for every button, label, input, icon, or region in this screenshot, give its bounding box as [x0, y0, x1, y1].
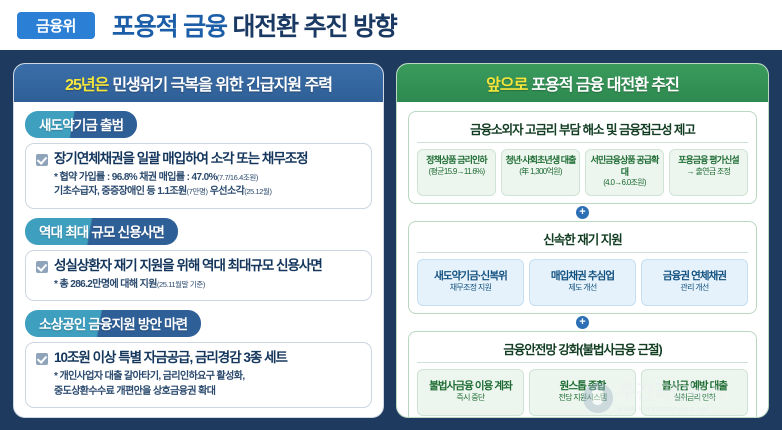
right-section-1-title: 금융소외자 고금리 부담 해소 및 금융접근성 제고: [417, 117, 748, 143]
left-block-1-sub-line2b: 우선소각: [208, 186, 245, 197]
cell-line1: 정책상품 금리인하: [426, 155, 487, 165]
page-header: 금융위 포용적 금융 대전환 추진 방향: [0, 0, 782, 50]
left-block-3: 소상공인 금융지원 방안 마련 10조원 이상 특별 자금공급, 금리경감 3종…: [25, 310, 372, 408]
page-title-highlight: 포용적 금융: [112, 13, 227, 41]
right-section-2-cells: 새도약기금·신복위 채무조정 지원 매입채권 추심업 제도 개선 금융권 연체채…: [417, 259, 748, 306]
right-section-2-cell-1: 새도약기금·신복위 채무조정 지원: [417, 259, 524, 306]
left-block-1-sub-line2-wrap: 기초수급자, 중증장애인 등 1.1조원(7만명) 우선소각(25.12월): [54, 185, 361, 200]
left-block-2-card: 성실상환자 재기 지원을 위해 역대 최대규모 신용사면 * 총 286.2만명…: [25, 250, 372, 301]
check-icon: [36, 154, 48, 166]
plus-icon: +: [576, 316, 589, 329]
cell-line1: 서민금융상품 공급확대: [590, 155, 658, 177]
cell-line2: 관리 개선: [644, 283, 745, 293]
cell-line2: 실취금리 인하: [644, 393, 745, 403]
org-badge: 금융위: [17, 12, 95, 39]
cell-line2: → 출연금 조정: [672, 167, 745, 177]
right-section-3-cells: 불법사금융 이용 계좌 즉시 중단 원스톱 종합 전담 지원시스템 불사금 예방…: [417, 369, 748, 416]
right-section-1-cell-1: 정책상품 금리인하 (평균15.9→11.6%): [417, 149, 496, 196]
left-panel: 25년은 민생위기 극복을 위한 긴급지원 주력 새도약기금 출범 장기연체채권…: [13, 63, 384, 418]
cell-line2: 즉시 중단: [420, 393, 521, 403]
cell-line1: 매입채권 추심업: [551, 270, 614, 282]
right-section-3-title: 금융안전망 강화(불법사금융 근절): [417, 337, 748, 363]
left-block-3-sub-line1: * 개인사업자 대출 갈아타기, 금리인하요구 활성화,: [54, 370, 361, 385]
left-block-1-main-row: 장기연체채권을 일괄 매입하여 소각 또는 채무조정: [36, 151, 361, 168]
left-block-2-sub-note1: (25.11월말 기준): [157, 280, 205, 289]
left-block-1: 새도약기금 출범 장기연체채권을 일괄 매입하여 소각 또는 채무조정 * 협약…: [25, 111, 372, 209]
page-title: 포용적 금융 대전환 추진 방향: [112, 7, 397, 43]
right-panel: 앞으로 포용적 금융 대전환 추진 금융소외자 고금리 부담 해소 및 금융접근…: [396, 63, 769, 418]
check-icon: [36, 261, 48, 273]
cell-line1: 포용금융 평가신설: [678, 155, 739, 165]
right-section-1-cell-3: 서민금융상품 공급확대 (4.0→6.0조원): [585, 149, 664, 196]
right-section-3-cell-1: 불법사금융 이용 계좌 즉시 중단: [417, 369, 524, 416]
right-panel-header-accent: 앞으로: [486, 71, 527, 95]
cell-line1: 불사금 예방 대출: [662, 380, 727, 392]
plus-icon: +: [576, 206, 589, 219]
page-title-rest: 대전환 추진 방향: [233, 13, 397, 41]
left-block-3-card: 10조원 이상 특별 자금공급, 금리경감 3종 세트 * 개인사업자 대출 갈…: [25, 342, 372, 408]
left-block-3-main-row: 10조원 이상 특별 자금공급, 금리경감 3종 세트: [36, 350, 361, 367]
left-block-1-sub-line2: 기초수급자, 중증장애인 등 1.1조원: [54, 186, 187, 197]
left-block-2-sub-line1: * 총 286.2만명에 대해 지원: [54, 279, 157, 290]
right-section-1-cell-4: 포용금융 평가신설 → 출연금 조정: [669, 149, 748, 196]
cell-line2: (年 1,300억원): [504, 167, 577, 177]
left-block-1-sub: * 협약 가입률 : 96.8% 채권 매입률 : 47.0%(7.7/16.4…: [36, 171, 361, 200]
cell-line2: (4.0→6.0조원): [588, 178, 661, 188]
cell-line2: 제도 개선: [532, 283, 633, 293]
left-block-3-main: 10조원 이상 특별 자금공급, 금리경감 3종 세트: [54, 350, 287, 367]
right-section-2-cell-3: 금융권 연체채권 관리 개선: [641, 259, 748, 306]
right-section-1-cells: 정책상품 금리인하 (평균15.9→11.6%) 청년·사회초년생 대출 (年 …: [417, 149, 748, 196]
cell-line2: 전담 지원시스템: [532, 393, 633, 403]
left-block-1-sub-note3: (25.12월): [244, 187, 271, 196]
left-block-1-pill: 새도약기금 출범: [25, 111, 137, 138]
right-panel-header: 앞으로 포용적 금융 대전환 추진: [397, 64, 768, 102]
left-block-1-sub-line1-wrap: * 협약 가입률 : 96.8% 채권 매입률 : 47.0%(7.7/16.4…: [54, 171, 361, 186]
cell-line2: 채무조정 지원: [420, 283, 521, 293]
cell-line2: (평균15.9→11.6%): [420, 167, 493, 177]
cell-line1: 금융권 연체채권: [663, 270, 726, 282]
left-block-1-sub-line1: * 협약 가입률 : 96.8% 채권 매입률 : 47.0%: [54, 172, 217, 183]
left-block-2-main: 성실상환자 재기 지원을 위해 역대 최대규모 신용사면: [54, 258, 322, 275]
left-block-3-sub-line2: 중도상환수수료 개편안을 상호금융권 확대: [54, 385, 361, 400]
cell-line1: 불법사금융 이용 계좌: [429, 380, 512, 392]
cell-line1: 청년·사회초년생 대출: [505, 155, 575, 165]
right-section-3: 금융안전망 강화(불법사금융 근절) 불법사금융 이용 계좌 즉시 중단 원스톱…: [408, 331, 757, 418]
connector-plus-2: +: [408, 314, 757, 331]
cell-line1: 원스톱 종합: [560, 380, 606, 392]
right-section-2: 신속한 재기 지원 새도약기금·신복위 채무조정 지원 매입채권 추심업 제도 …: [408, 221, 757, 314]
left-block-2-main-row: 성실상환자 재기 지원을 위해 역대 최대규모 신용사면: [36, 258, 361, 275]
left-block-1-sub-note2: (7만명): [187, 187, 208, 196]
left-block-2-pill: 역대 최대 규모 신용사면: [25, 218, 178, 245]
right-section-2-title: 신속한 재기 지원: [417, 227, 748, 253]
left-block-1-sub-note1: (7.7/16.4조원): [217, 173, 258, 182]
left-panel-body: 새도약기금 출범 장기연체채권을 일괄 매입하여 소각 또는 채무조정 * 협약…: [14, 102, 383, 408]
right-section-1: 금융소외자 고금리 부담 해소 및 금융접근성 제고 정책상품 금리인하 (평균…: [408, 111, 757, 204]
cell-line1: 새도약기금·신복위: [434, 270, 507, 282]
infographic-page: 금융위 포용적 금융 대전환 추진 방향 25년은 민생위기 극복을 위한 긴급…: [0, 0, 782, 430]
right-section-1-cell-2: 청년·사회초년생 대출 (年 1,300억원): [501, 149, 580, 196]
right-panel-header-rest: 포용적 금융 대전환 추진: [531, 71, 679, 95]
left-block-1-card: 장기연체채권을 일괄 매입하여 소각 또는 채무조정 * 협약 가입률 : 96…: [25, 143, 372, 209]
right-section-2-cell-2: 매입채권 추심업 제도 개선: [529, 259, 636, 306]
left-block-2-sub: * 총 286.2만명에 대해 지원(25.11월말 기준): [36, 278, 361, 293]
right-section-3-cell-2: 원스톱 종합 전담 지원시스템: [529, 369, 636, 416]
left-panel-header: 25년은 민생위기 극복을 위한 긴급지원 주력: [14, 64, 383, 102]
left-block-3-pill: 소상공인 금융지원 방안 마련: [25, 310, 201, 337]
check-icon: [36, 353, 48, 365]
connector-plus-1: +: [408, 204, 757, 221]
left-block-2: 역대 최대 규모 신용사면 성실상환자 재기 지원을 위해 역대 최대규모 신용…: [25, 218, 372, 301]
board-background: 25년은 민생위기 극복을 위한 긴급지원 주력 새도약기금 출범 장기연체채권…: [0, 50, 782, 430]
left-block-1-main: 장기연체채권을 일괄 매입하여 소각 또는 채무조정: [54, 151, 308, 168]
right-panel-body: 금융소외자 고금리 부담 해소 및 금융접근성 제고 정책상품 금리인하 (평균…: [397, 102, 768, 418]
left-panel-header-accent: 25년은: [65, 71, 108, 95]
left-panel-header-rest: 민생위기 극복을 위한 긴급지원 주력: [112, 71, 332, 95]
left-block-3-sub: * 개인사업자 대출 갈아타기, 금리인하요구 활성화, 중도상환수수료 개편안…: [36, 370, 361, 399]
right-section-3-cell-3: 불사금 예방 대출 실취금리 인하: [641, 369, 748, 416]
